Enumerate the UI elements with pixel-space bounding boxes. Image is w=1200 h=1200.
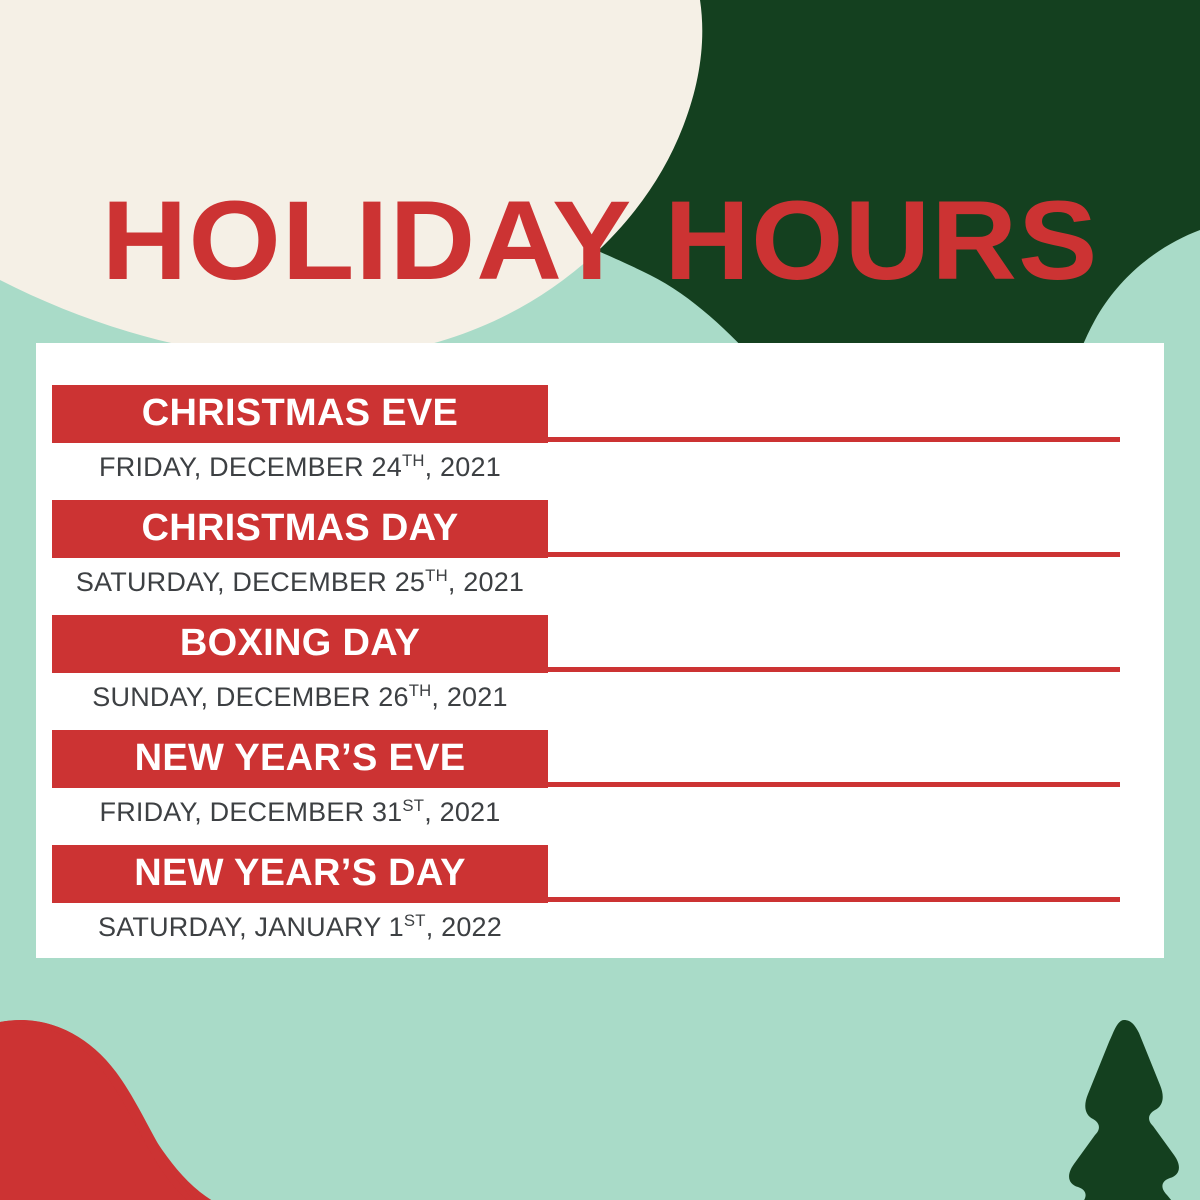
- holiday-date: SATURDAY, JANUARY 1ST, 2022: [52, 905, 548, 949]
- holiday-date: SUNDAY, DECEMBER 26TH, 2021: [52, 675, 548, 719]
- holiday-name-bar: CHRISTMAS EVE: [52, 385, 548, 443]
- table-row: CHRISTMAS DAY SATURDAY, DECEMBER 25TH, 2…: [36, 500, 1164, 615]
- hours-write-in-line[interactable]: [548, 782, 1120, 787]
- date-prefix: FRIDAY, DECEMBER 24: [99, 452, 402, 482]
- schedule-card: CHRISTMAS EVE FRIDAY, DECEMBER 24TH, 202…: [36, 343, 1164, 958]
- table-row: CHRISTMAS EVE FRIDAY, DECEMBER 24TH, 202…: [36, 385, 1164, 500]
- date-ordinal: ST: [404, 911, 426, 930]
- date-suffix: , 2021: [431, 682, 507, 712]
- holiday-name: BOXING DAY: [180, 624, 420, 662]
- date-suffix: , 2022: [426, 912, 502, 942]
- date-ordinal: TH: [402, 451, 425, 470]
- holiday-name-bar: BOXING DAY: [52, 615, 548, 673]
- holiday-name: CHRISTMAS EVE: [142, 394, 458, 432]
- holiday-date: SATURDAY, DECEMBER 25TH, 2021: [52, 560, 548, 604]
- page-title: HOLIDAY HOURS: [0, 186, 1200, 296]
- date-ordinal: ST: [402, 796, 424, 815]
- holiday-date: FRIDAY, DECEMBER 31ST, 2021: [52, 790, 548, 834]
- holiday-name-bar: NEW YEAR’S DAY: [52, 845, 548, 903]
- holiday-name: CHRISTMAS DAY: [141, 509, 458, 547]
- hours-write-in-line[interactable]: [548, 897, 1120, 902]
- holiday-name-bar: CHRISTMAS DAY: [52, 500, 548, 558]
- date-suffix: , 2021: [448, 567, 524, 597]
- date-prefix: SUNDAY, DECEMBER 26: [92, 682, 408, 712]
- holiday-date: FRIDAY, DECEMBER 24TH, 2021: [52, 445, 548, 489]
- date-prefix: SATURDAY, DECEMBER 25: [76, 567, 425, 597]
- date-ordinal: TH: [425, 566, 448, 585]
- holiday-hours-poster: HOLIDAY HOURS CHRISTMAS EVE FRIDAY, DECE…: [0, 0, 1200, 1200]
- date-suffix: , 2021: [425, 452, 501, 482]
- holiday-name-bar: NEW YEAR’S EVE: [52, 730, 548, 788]
- date-ordinal: TH: [409, 681, 432, 700]
- date-prefix: FRIDAY, DECEMBER 31: [100, 797, 403, 827]
- hours-write-in-line[interactable]: [548, 667, 1120, 672]
- table-row: NEW YEAR’S EVE FRIDAY, DECEMBER 31ST, 20…: [36, 730, 1164, 845]
- hours-write-in-line[interactable]: [548, 552, 1120, 557]
- holiday-name: NEW YEAR’S EVE: [135, 739, 466, 777]
- holiday-name: NEW YEAR’S DAY: [134, 854, 466, 892]
- date-prefix: SATURDAY, JANUARY 1: [98, 912, 404, 942]
- date-suffix: , 2021: [424, 797, 500, 827]
- table-row: NEW YEAR’S DAY SATURDAY, JANUARY 1ST, 20…: [36, 845, 1164, 960]
- hours-write-in-line[interactable]: [548, 437, 1120, 442]
- table-row: BOXING DAY SUNDAY, DECEMBER 26TH, 2021: [36, 615, 1164, 730]
